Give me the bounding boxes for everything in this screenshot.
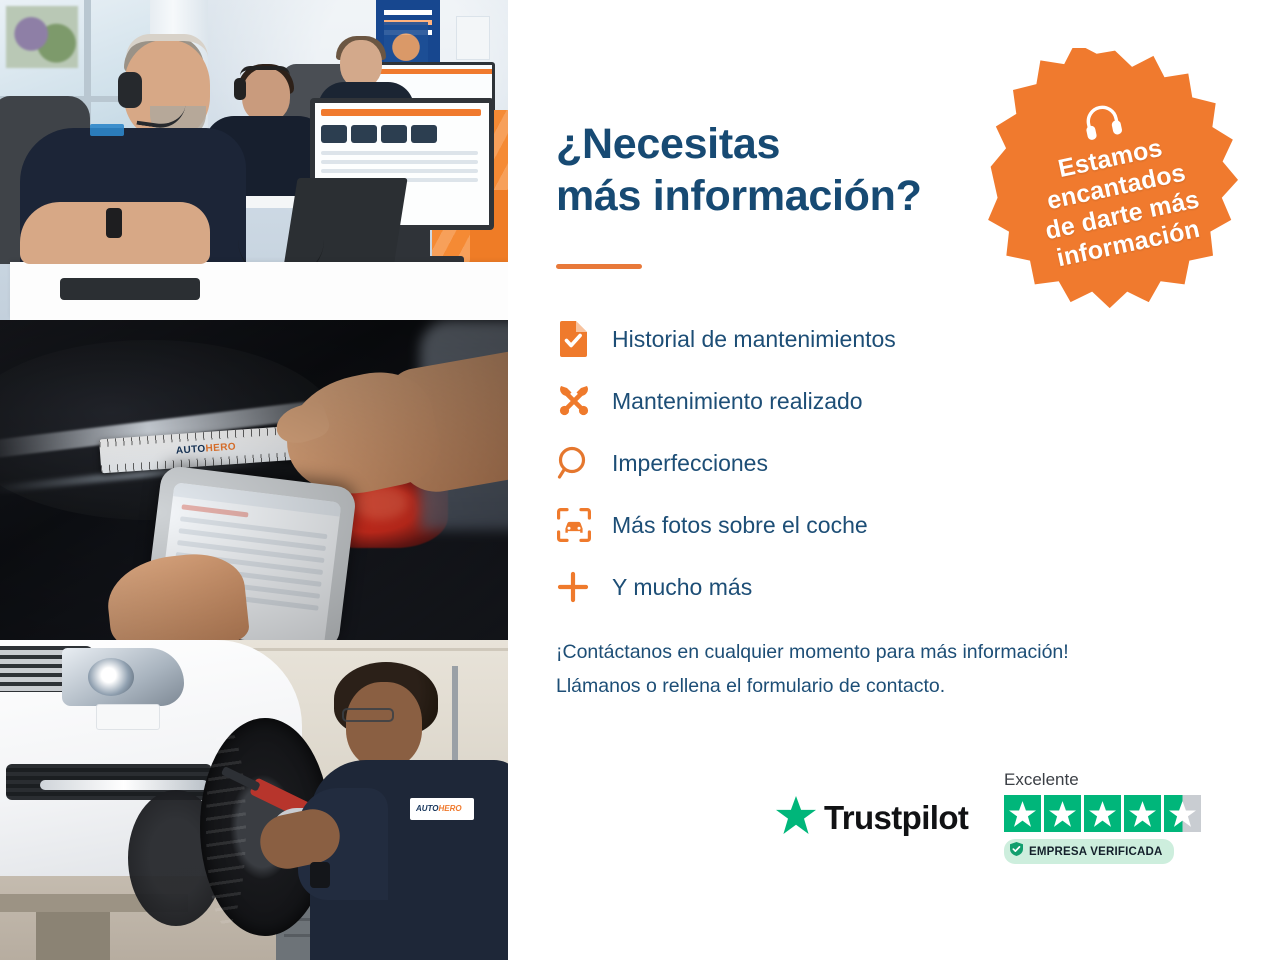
star-5-half	[1164, 795, 1201, 832]
lift-ramp-leg	[36, 912, 110, 960]
feature-item-mucho-mas: Y mucho más	[556, 556, 1076, 618]
page-title-line2: más información?	[556, 172, 922, 220]
trustpilot-star-icon	[776, 796, 816, 839]
feature-item-historial: Historial de mantenimientos	[556, 308, 1076, 370]
feature-label: Mantenimiento realizado	[612, 388, 863, 415]
chrome-trim	[40, 780, 208, 790]
feature-label: Y mucho más	[612, 574, 752, 601]
star-2	[1044, 795, 1081, 832]
trustpilot-block: Trustpilot Excelente	[776, 770, 1196, 882]
page-title: ¿Necesitas más información?	[556, 118, 986, 223]
photo-collage: AUTOHERO	[0, 0, 508, 960]
content-panel: ¿Necesitas más información? Estamos	[508, 0, 1280, 960]
document-check-icon	[556, 320, 612, 358]
feature-list: Historial de mantenimientos M	[556, 308, 1076, 618]
wristwatch	[106, 208, 122, 238]
magnifier-icon	[556, 445, 612, 481]
feature-item-imperfecciones: Imperfecciones	[556, 432, 1076, 494]
autohero-logo-patch: AUTOHERO	[410, 798, 474, 820]
contact-text: ¡Contáctanos en cualquier momento para m…	[556, 636, 1236, 703]
car-inspection-photo: AUTOHERO	[0, 320, 508, 640]
tyre-tread	[206, 726, 246, 926]
plus-icon	[556, 570, 612, 604]
shield-check-icon	[1010, 842, 1023, 861]
feature-item-mantenimiento: Mantenimiento realizado	[556, 370, 1076, 432]
star-1	[1004, 795, 1041, 832]
rating-label: Excelente	[1004, 770, 1201, 790]
star-4	[1124, 795, 1161, 832]
verified-company-badge: EMPRESA VERIFICADA	[1004, 839, 1174, 864]
tools-icon	[556, 383, 612, 419]
feature-label: Historial de mantenimientos	[612, 326, 896, 353]
mechanic: AUTOHERO	[316, 656, 508, 960]
help-badge: Estamos encantados de darte más informac…	[982, 48, 1248, 314]
wall-poster-white	[456, 16, 490, 60]
feature-label: Más fotos sobre el coche	[612, 512, 868, 539]
contact-line-1: ¡Contáctanos en cualquier momento para m…	[556, 636, 1236, 670]
star-3	[1084, 795, 1121, 832]
trustpilot-logo[interactable]: Trustpilot	[776, 796, 968, 839]
title-divider	[556, 264, 642, 269]
promo-page: AUTOHERO	[0, 0, 1280, 960]
feature-item-fotos: Más fotos sobre el coche	[556, 494, 1076, 556]
star-rating	[1004, 795, 1201, 832]
feature-label: Imperfecciones	[612, 450, 768, 477]
car-scan-icon	[556, 507, 612, 543]
badge-text: Estamos encantados de darte más informac…	[1031, 128, 1208, 274]
headlight-lens	[88, 658, 134, 696]
desk-notebook	[60, 278, 200, 300]
call-center-agents-photo	[0, 0, 508, 320]
contact-line-2: Llámanos o rellena el formulario de cont…	[556, 670, 1236, 704]
trustpilot-wordmark: Trustpilot	[824, 799, 968, 837]
page-title-line1: ¿Necesitas	[556, 120, 780, 168]
trustpilot-rating: Excelente EMPRESA VERIFICADA	[1004, 770, 1201, 864]
photo-vignette	[0, 320, 508, 640]
verified-label: EMPRESA VERIFICADA	[1029, 846, 1163, 858]
workshop-wheel-photo: AUTOHERO	[0, 640, 508, 960]
licence-plate-blank	[96, 704, 160, 730]
headset-icon	[1079, 100, 1126, 146]
